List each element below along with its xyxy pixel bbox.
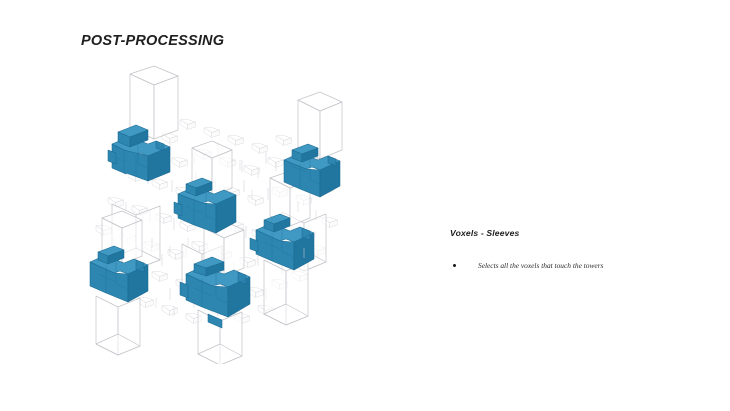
voxel-cluster-mid-right xyxy=(250,214,314,270)
caption-block: Voxels - Sleeves Selects all the voxels … xyxy=(450,228,700,271)
caption-heading: Voxels - Sleeves xyxy=(450,228,700,238)
slide-canvas: POST-PROCESSING xyxy=(0,0,730,411)
list-item: Selects all the voxels that touch the to… xyxy=(450,261,700,271)
voxel-sleeves-diagram xyxy=(52,52,372,364)
page-title: POST-PROCESSING xyxy=(81,33,224,49)
list-item-label: Selects all the voxels that touch the to… xyxy=(478,261,603,270)
caption-bullet-list: Selects all the voxels that touch the to… xyxy=(450,261,700,271)
bullet-dot-icon xyxy=(453,264,456,267)
